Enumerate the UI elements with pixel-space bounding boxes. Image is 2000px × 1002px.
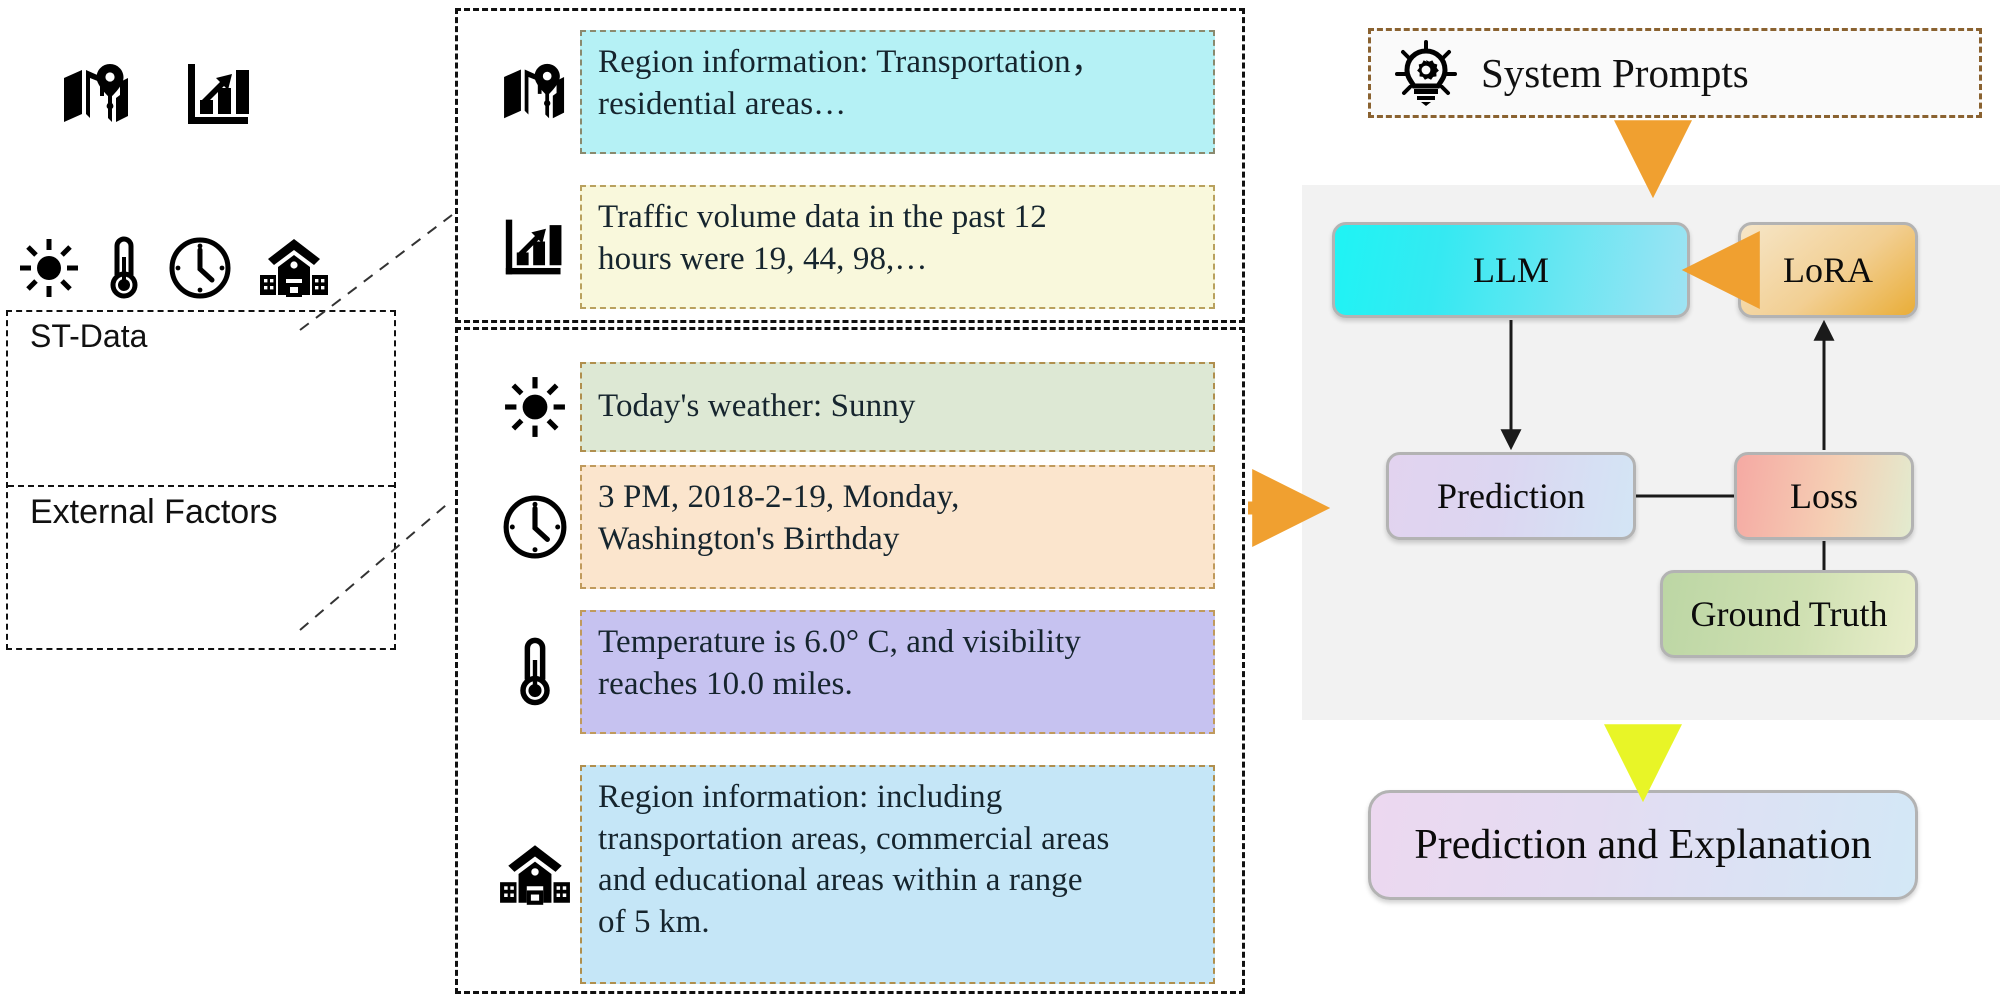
- bubble-line: Region information: including: [598, 777, 1197, 819]
- list-item: Temperature is 6.0° C, and visibility re…: [490, 610, 1215, 734]
- list-item: Region information: including transporta…: [490, 765, 1215, 984]
- external-factors-title: External Factors: [8, 487, 394, 532]
- map-pin-icon: [490, 62, 580, 122]
- bar-chart-trend-icon: [186, 62, 254, 131]
- bubble-line: 3 PM, 2018-2-19, Monday,: [598, 477, 1197, 519]
- bubble-line: residential areas…: [598, 84, 1197, 126]
- external-factors-section: External Factors: [8, 487, 394, 650]
- bubble-line: of 5 km.: [598, 902, 1197, 944]
- region-info-bubble: Region information: Transportation， resi…: [580, 30, 1215, 154]
- bubble-line: Traffic volume data in the past 12: [598, 197, 1197, 239]
- llm-node: LLM: [1332, 222, 1690, 318]
- list-item: Region information: Transportation， resi…: [490, 30, 1215, 154]
- school-icon: [490, 843, 580, 907]
- bubble-line: hours were 19, 44, 98,…: [598, 239, 1197, 281]
- output-node: Prediction and Explanation: [1368, 790, 1918, 900]
- map-pin-icon: [60, 62, 134, 131]
- list-item: 3 PM, 2018-2-19, Monday, Washington's Bi…: [490, 465, 1215, 589]
- lightbulb-gear-icon: [1371, 40, 1481, 106]
- bubble-line: Region information: Transportation，: [598, 42, 1197, 84]
- st-data-icon-row: [60, 62, 380, 131]
- bubble-line: Today's weather: Sunny: [598, 386, 915, 428]
- loss-node: Loss: [1734, 452, 1914, 540]
- thermometer-icon: [490, 636, 580, 708]
- bubble-line: transportation areas, commercial areas: [598, 819, 1197, 861]
- st-data-section: ST-Data: [8, 312, 394, 487]
- region-detail-bubble: Region information: including transporta…: [580, 765, 1215, 984]
- list-item: Traffic volume data in the past 12 hours…: [490, 185, 1215, 309]
- datetime-bubble: 3 PM, 2018-2-19, Monday, Washington's Bi…: [580, 465, 1215, 589]
- left-legend-panel: ST-Data External Factors: [6, 310, 396, 650]
- bubble-line: Temperature is 6.0° C, and visibility: [598, 622, 1197, 664]
- system-prompts-box: System Prompts: [1368, 28, 1982, 118]
- bar-chart-trend-icon: [490, 217, 580, 277]
- prediction-node: Prediction: [1386, 452, 1636, 540]
- weather-bubble: Today's weather: Sunny: [580, 362, 1215, 452]
- bubble-line: Washington's Birthday: [598, 519, 1197, 561]
- lora-node: LoRA: [1738, 222, 1918, 318]
- system-prompts-label: System Prompts: [1481, 49, 1749, 97]
- clock-icon: [168, 236, 232, 305]
- thermometer-icon: [106, 235, 142, 306]
- clock-icon: [490, 494, 580, 560]
- bubble-line: reaches 10.0 miles.: [598, 664, 1197, 706]
- external-factors-icon-row: [18, 235, 388, 306]
- school-icon: [258, 237, 330, 304]
- st-data-title: ST-Data: [8, 312, 394, 355]
- bubble-line: and educational areas within a range: [598, 860, 1197, 902]
- ground-truth-node: Ground Truth: [1660, 570, 1918, 658]
- list-item: Today's weather: Sunny: [490, 362, 1215, 452]
- sun-icon: [18, 237, 80, 304]
- traffic-volume-bubble: Traffic volume data in the past 12 hours…: [580, 185, 1215, 309]
- sun-icon: [490, 375, 580, 439]
- temperature-bubble: Temperature is 6.0° C, and visibility re…: [580, 610, 1215, 734]
